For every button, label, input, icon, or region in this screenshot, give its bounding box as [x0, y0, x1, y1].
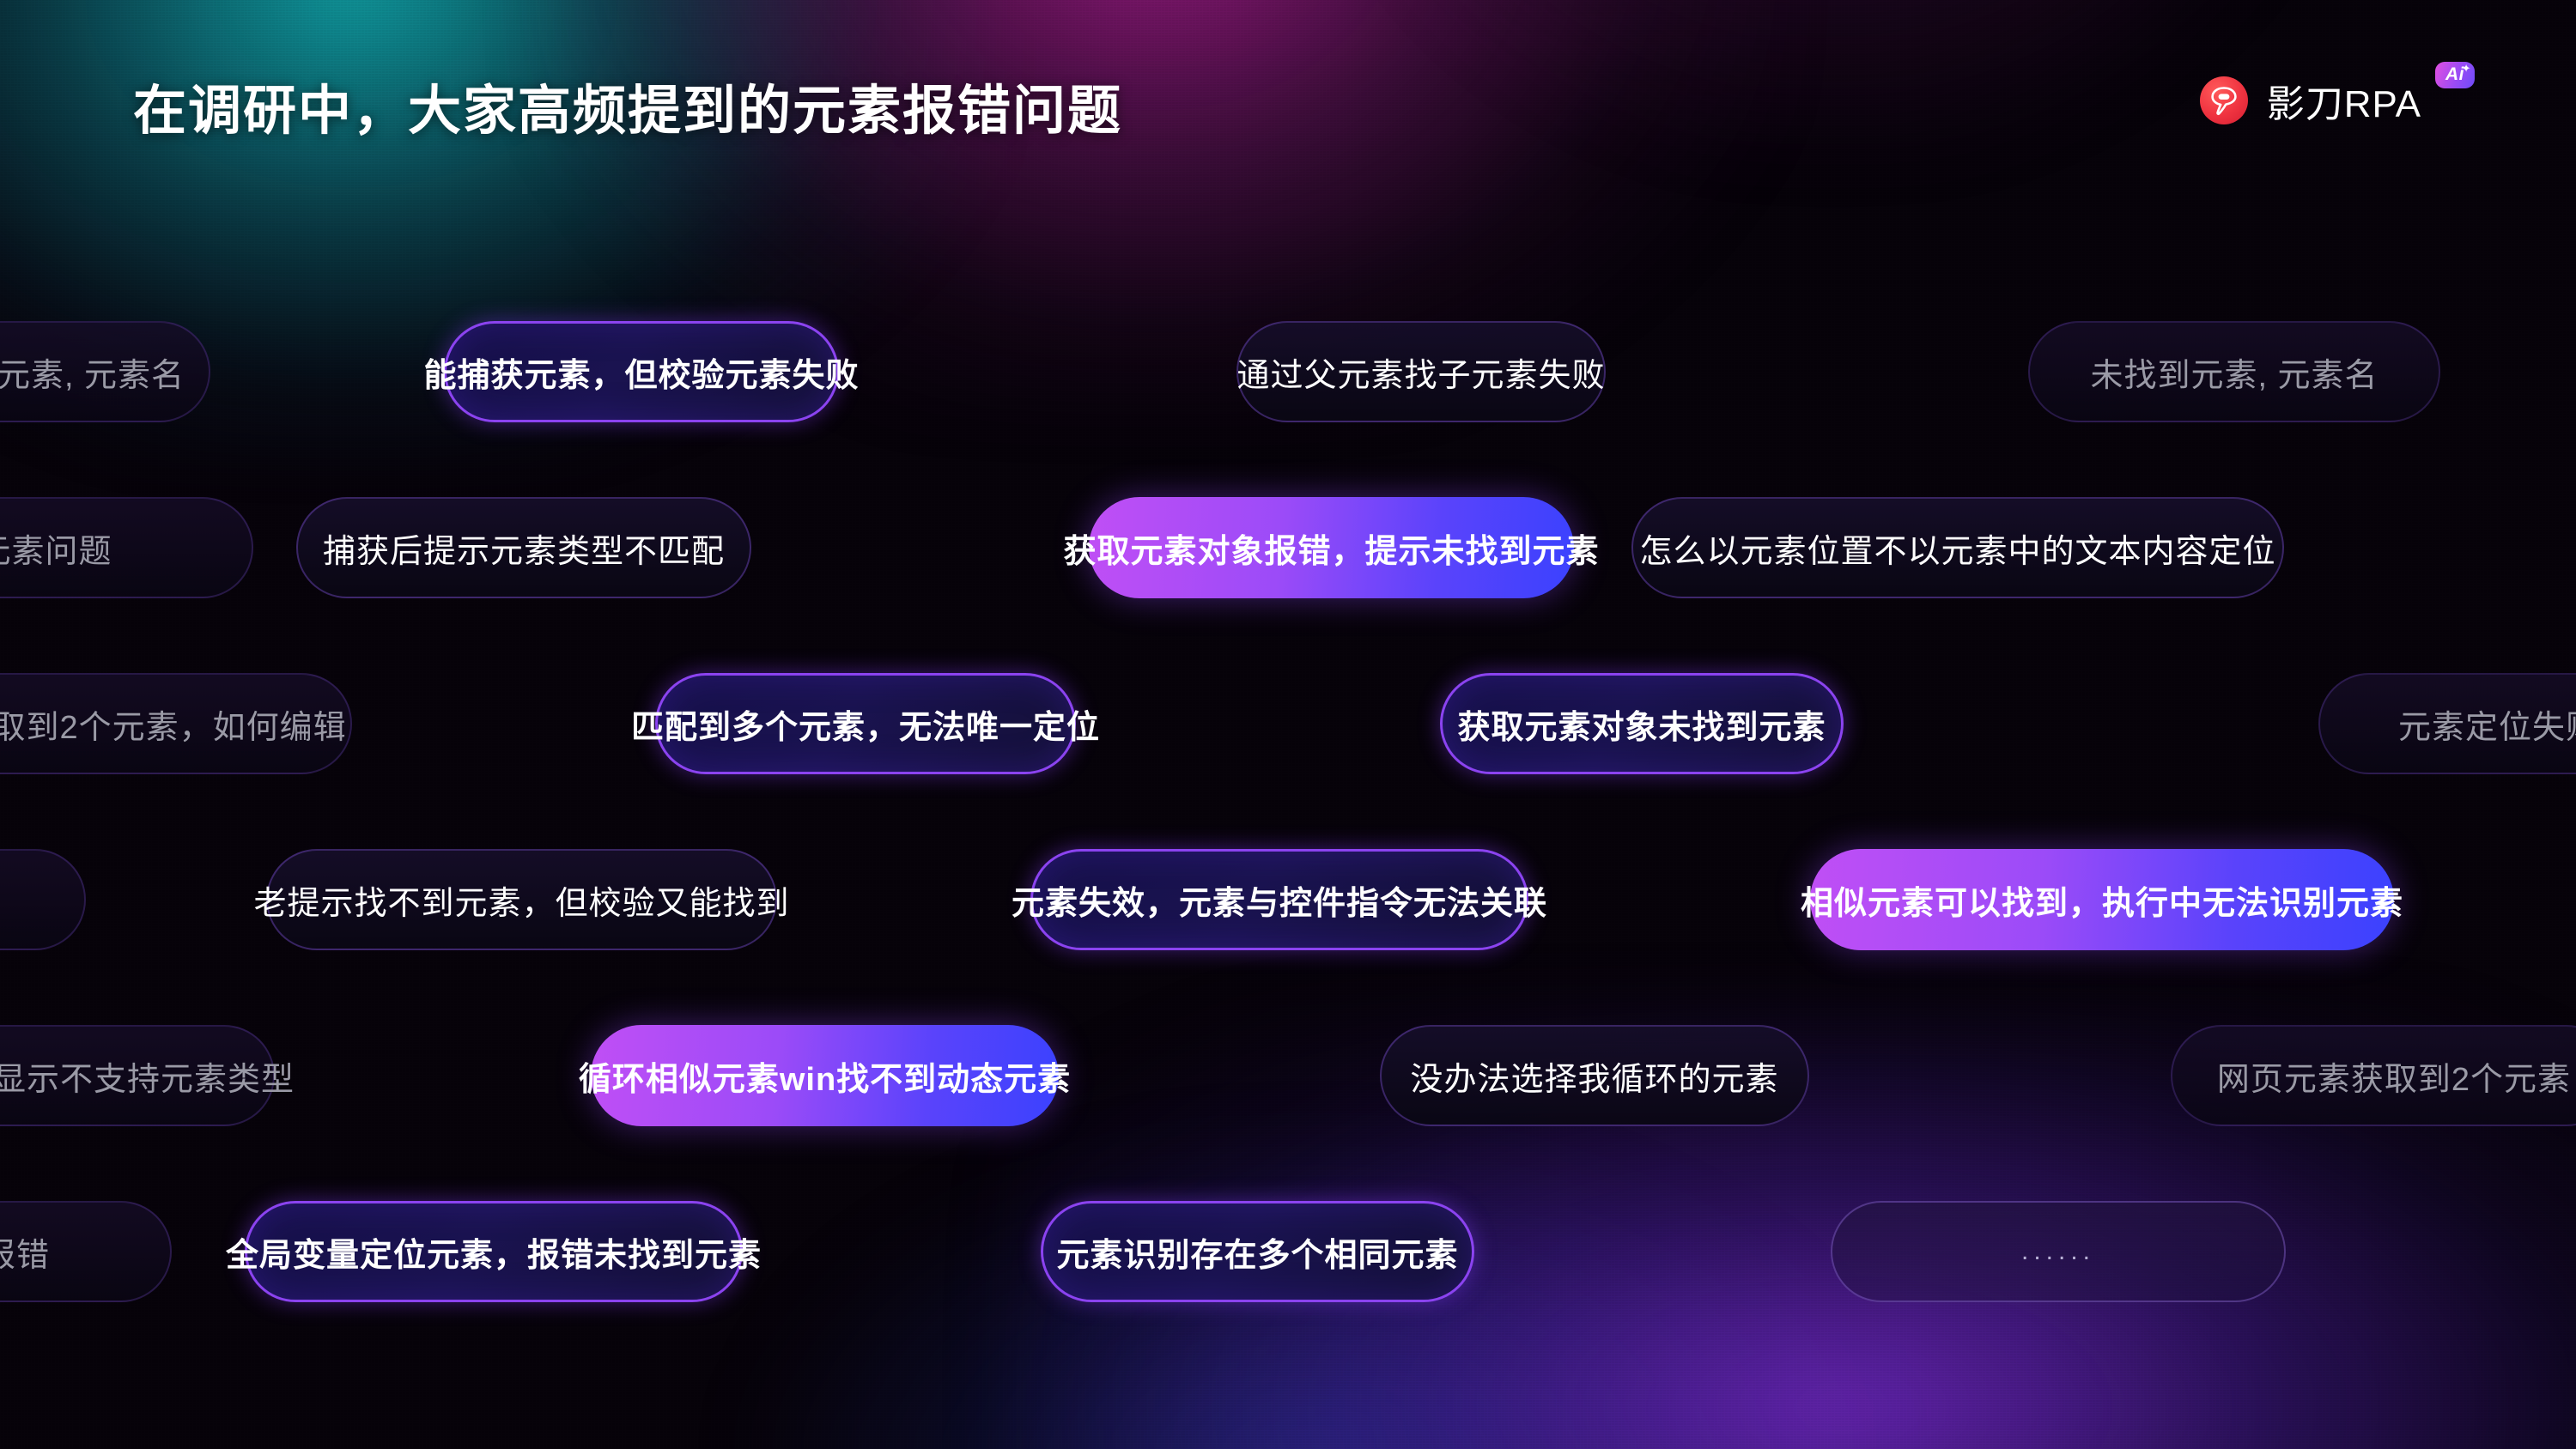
issue-pill[interactable]: 全局变量定位元素，报错未找到元素 — [245, 1201, 743, 1302]
issue-pill[interactable]: 获取元素对象报错，提示未找到元素 — [1089, 497, 1574, 598]
slide-canvas: 在调研中，大家高频提到的元素报错问题 影刀RPA Ai ✦ 未找到元素, 元素名… — [0, 0, 2576, 1449]
issue-pill[interactable]: 匹配到多个元素，无法唯一定位 — [655, 673, 1076, 774]
pill-row: 未找到元素, 元素名能捕获元素，但校验元素失败通过父元素找子元素失败未找到元素,… — [0, 283, 2576, 459]
issue-pill[interactable]: 元素问题 — [0, 849, 86, 950]
issue-pill[interactable]: 获取元素对象未找到元素 — [1440, 673, 1844, 774]
pill-board: 未找到元素, 元素名能捕获元素，但校验元素失败通过父元素找子元素失败未找到元素,… — [0, 283, 2576, 1339]
issue-pill[interactable]: 元素问题 — [0, 497, 253, 598]
issue-pill[interactable]: 元素识别存在多个相同元素 — [1041, 1201, 1474, 1302]
pill-row: 元素问题老提示找不到元素，但校验又能找到元素失效，元素与控件指令无法关联相似元素… — [0, 811, 2576, 987]
issue-pill[interactable]: 元素报错 — [0, 1201, 172, 1302]
issue-pill[interactable]: 未找到元素, 元素名 — [2028, 321, 2440, 422]
issue-pill[interactable]: 循环相似元素win找不到动态元素 — [591, 1025, 1059, 1126]
issue-pill[interactable]: 没办法选择我循环的元素 — [1380, 1025, 1809, 1126]
pill-row: 元素问题捕获后提示元素类型不匹配获取元素对象报错，提示未找到元素怎么以元素位置不… — [0, 459, 2576, 635]
ai-badge: Ai ✦ — [2435, 62, 2475, 88]
issue-pill[interactable]: 能捕获元素，但校验元素失败 — [444, 321, 839, 422]
sparkle-icon: ✦ — [2462, 63, 2471, 75]
issue-pill[interactable]: 捕获后提示元素类型不匹配 — [296, 497, 751, 598]
pill-row: 捕获元素时显示不支持元素类型循环相似元素win找不到动态元素没办法选择我循环的元… — [0, 987, 2576, 1163]
issue-pill[interactable]: 网页元素获取到2个元素，如何编辑 — [0, 673, 352, 774]
slide-header: 在调研中，大家高频提到的元素报错问题 影刀RPA Ai ✦ — [0, 0, 2576, 146]
yingdao-mark-icon — [2200, 76, 2248, 124]
brand-name: 影刀RPA — [2267, 73, 2421, 128]
pill-row: 网页元素获取到2个元素，如何编辑匹配到多个元素，无法唯一定位获取元素对象未找到元… — [0, 635, 2576, 811]
issue-pill[interactable]: 捕获元素时显示不支持元素类型 — [0, 1025, 275, 1126]
brand-lockup: 影刀RPA Ai ✦ — [2200, 70, 2475, 130]
issue-pill[interactable]: 相似元素可以找到，执行中无法识别元素 — [1810, 849, 2394, 950]
issue-pill[interactable]: 未找到元素, 元素名 — [0, 321, 210, 422]
issue-pill[interactable]: 通过父元素找子元素失败 — [1236, 321, 1606, 422]
issue-pill[interactable]: 元素定位失败 — [2318, 673, 2576, 774]
page-title: 在调研中，大家高频提到的元素报错问题 — [133, 67, 1122, 144]
issue-pill[interactable]: 元素失效，元素与控件指令无法关联 — [1030, 849, 1528, 950]
issue-pill[interactable]: 老提示找不到元素，但校验又能找到 — [266, 849, 777, 950]
issue-pill[interactable]: 网页元素获取到2个元素 — [2171, 1025, 2576, 1126]
pill-row: 元素报错全局变量定位元素，报错未找到元素元素识别存在多个相同元素...... — [0, 1163, 2576, 1339]
issue-pill[interactable]: ...... — [1831, 1201, 2286, 1302]
issue-pill[interactable]: 怎么以元素位置不以元素中的文本内容定位 — [1631, 497, 2284, 598]
